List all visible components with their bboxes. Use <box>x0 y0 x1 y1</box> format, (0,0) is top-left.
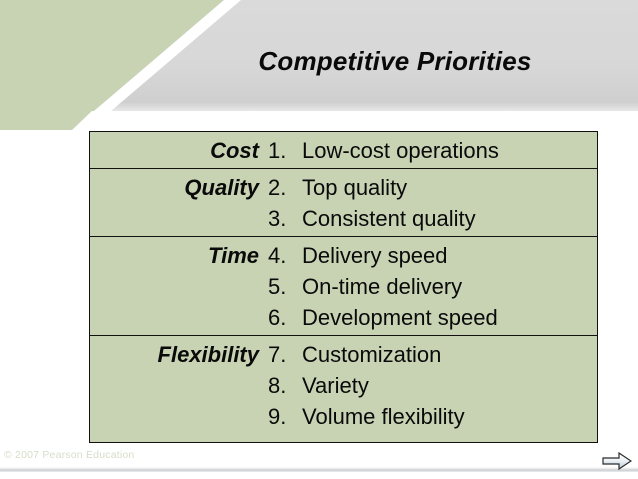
list-item-number: 2. <box>268 172 302 203</box>
category-label-cost: Cost <box>90 132 268 168</box>
list-item-number: 9. <box>268 401 302 432</box>
table-row: Cost 1. Low-cost operations <box>90 132 597 169</box>
list-item: 6. Development speed <box>268 302 593 333</box>
list-item-label: On-time delivery <box>302 271 593 302</box>
copyright-notice: © 2007 Pearson Education <box>4 449 134 461</box>
category-items-quality: 2. Top quality 3. Consistent quality <box>268 169 597 236</box>
list-item: 7. Customization <box>268 339 593 370</box>
list-item-label: Customization <box>302 339 593 370</box>
list-item-number: 5. <box>268 271 302 302</box>
category-label-flexibility: Flexibility <box>90 336 268 434</box>
list-item-label: Delivery speed <box>302 240 593 271</box>
list-item-label: Consistent quality <box>302 203 593 234</box>
list-item-number: 4. <box>268 240 302 271</box>
list-item: 1. Low-cost operations <box>268 135 593 166</box>
table-row: Quality 2. Top quality 3. Consistent qua… <box>90 169 597 237</box>
table-row: Flexibility 7. Customization 8. Variety … <box>90 336 597 434</box>
list-item: 3. Consistent quality <box>268 203 593 234</box>
list-item-label: Top quality <box>302 172 593 203</box>
list-item-number: 3. <box>268 203 302 234</box>
category-items-cost: 1. Low-cost operations <box>268 132 597 168</box>
list-item: 8. Variety <box>268 370 593 401</box>
list-item-number: 7. <box>268 339 302 370</box>
arrow-right-icon[interactable] <box>602 452 632 470</box>
table-row: Time 4. Delivery speed 5. On-time delive… <box>90 237 597 336</box>
page-title: Competitive Priorities <box>180 46 610 77</box>
list-item-number: 1. <box>268 135 302 166</box>
competitive-priorities-table: Cost 1. Low-cost operations Quality 2. T… <box>89 131 598 443</box>
list-item-number: 8. <box>268 370 302 401</box>
list-item-number: 6. <box>268 302 302 333</box>
list-item: 4. Delivery speed <box>268 240 593 271</box>
category-items-flexibility: 7. Customization 8. Variety 9. Volume fl… <box>268 336 597 434</box>
list-item-label: Low-cost operations <box>302 135 593 166</box>
list-item-label: Volume flexibility <box>302 401 593 432</box>
category-items-time: 4. Delivery speed 5. On-time delivery 6.… <box>268 237 597 335</box>
list-item-label: Development speed <box>302 302 593 333</box>
list-item: 5. On-time delivery <box>268 271 593 302</box>
category-label-time: Time <box>90 237 268 335</box>
footer-divider <box>0 467 638 472</box>
list-item: 2. Top quality <box>268 172 593 203</box>
category-label-quality: Quality <box>90 169 268 236</box>
slide-canvas: Competitive Priorities Cost 1. Low-cost … <box>0 0 638 479</box>
slide-header-band: Competitive Priorities <box>0 0 638 111</box>
list-item-label: Variety <box>302 370 593 401</box>
list-item: 9. Volume flexibility <box>268 401 593 432</box>
